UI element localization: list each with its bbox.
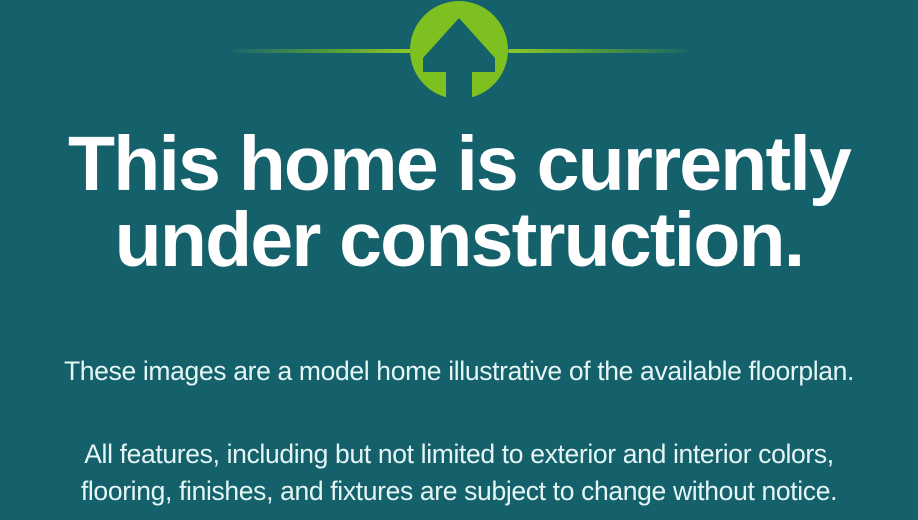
divider-line-left-icon <box>232 49 412 53</box>
disclaimer-paragraph-2: All features, including but not limited … <box>0 436 918 511</box>
page-title: This home is currently under constructio… <box>0 126 918 278</box>
divider-line-right-icon <box>508 49 688 53</box>
home-arrow-circle-logo-icon <box>409 0 509 100</box>
logo-band <box>0 0 918 100</box>
disclaimer-text: These images are a model home illustrati… <box>0 358 918 511</box>
under-construction-banner: This home is currently under constructio… <box>0 0 918 520</box>
disclaimer-paragraph-1: These images are a model home illustrati… <box>0 358 918 385</box>
